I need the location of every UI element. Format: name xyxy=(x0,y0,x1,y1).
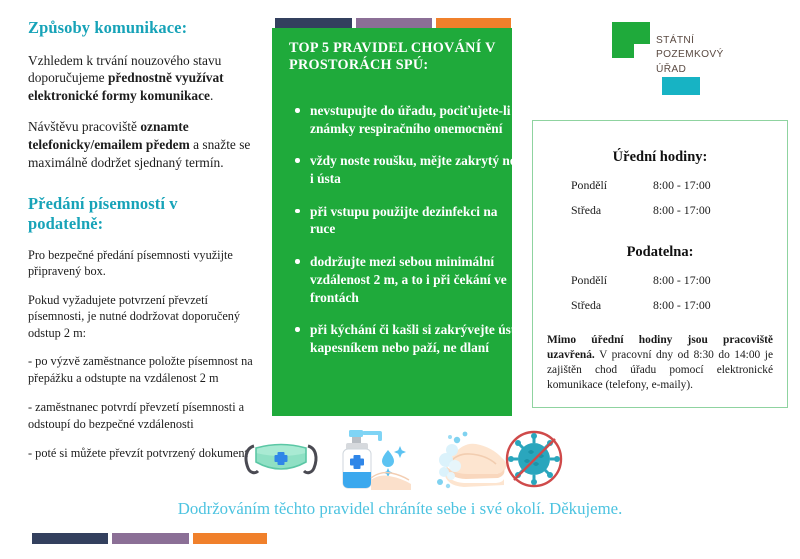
rule-item: při kýchání či kašli si zakrývejte ústa … xyxy=(310,321,526,356)
registry-step-3: - poté si můžete převzít potvrzený dokum… xyxy=(28,445,256,461)
logo-green-block-icon xyxy=(612,22,650,58)
rule-item: při vstupu použijte dezinfekci na ruce xyxy=(310,203,526,238)
registry-hours-row: Pondělí 8:00 - 17:00 xyxy=(571,273,711,288)
top5-rules-panel: TOP 5 PRAVIDEL CHOVÁNÍ V PROSTORÁCH SPÚ:… xyxy=(272,28,512,416)
hand-sanitizer-icon xyxy=(326,428,418,490)
registry-hours-day: Středa xyxy=(571,298,653,313)
bottom-color-bars xyxy=(32,533,267,544)
rule-item: vždy noste roušku, mějte zakrytý nos i ú… xyxy=(310,152,526,187)
office-hours-title: Úřední hodiny: xyxy=(533,149,787,166)
registry-hours-time: 8:00 - 17:00 xyxy=(653,298,711,313)
registry-heading: Předání písemností v podatelně: xyxy=(28,194,256,235)
registry-hours-row: Středa 8:00 - 17:00 xyxy=(571,298,711,313)
face-mask-icon xyxy=(240,428,322,490)
logo-line-1: STÁTNÍ xyxy=(656,34,724,48)
left-column: Způsoby komunikace: Vzhledem k trvání no… xyxy=(28,18,256,475)
paragraph-1-text-b: . xyxy=(210,88,213,103)
office-hours-time: 8:00 - 17:00 xyxy=(653,203,711,218)
registry-step-1: - po výzvě zaměstnance položte písemnost… xyxy=(28,353,256,386)
color-bar-purple xyxy=(112,533,188,544)
communication-heading: Způsoby komunikace: xyxy=(28,18,256,39)
communication-paragraph-1: Vzhledem k trvání nouzového stavu doporu… xyxy=(28,52,256,105)
rule-item: nevstupujte do úřadu, pociťujete-li znám… xyxy=(310,102,526,137)
top5-title: TOP 5 PRAVIDEL CHOVÁNÍ V PROSTORÁCH SPÚ: xyxy=(289,40,499,75)
opening-hours-box: Úřední hodiny: Pondělí 8:00 - 17:00 Stře… xyxy=(532,120,788,408)
spu-logo: STÁTNÍ POZEMKOVÝ ÚŘAD xyxy=(612,22,752,92)
color-bar-navy xyxy=(32,533,108,544)
registry-hours-day: Pondělí xyxy=(571,273,653,288)
paragraph-2-text-a: Návštěvu pracoviště xyxy=(28,119,140,134)
logo-wordmark: STÁTNÍ POZEMKOVÝ ÚŘAD xyxy=(656,34,724,77)
logo-line-2: POZEMKOVÝ xyxy=(656,48,724,62)
registry-step-2: - zaměstnanec potvrdí převzetí písemnost… xyxy=(28,399,256,432)
no-virus-icon xyxy=(498,428,570,490)
office-hours-row: Středa 8:00 - 17:00 xyxy=(571,203,711,218)
footer-message: Dodržováním těchto pravidel chráníte seb… xyxy=(0,499,800,519)
logo-teal-block-icon xyxy=(662,77,700,95)
office-hours-row: Pondělí 8:00 - 17:00 xyxy=(571,178,711,193)
outside-hours-note: Mimo úřední hodiny jsou pracoviště uzavř… xyxy=(547,333,773,394)
registry-paragraph-1: Pro bezpečné předání písemnosti využijte… xyxy=(28,247,256,280)
poster-page: Způsoby komunikace: Vzhledem k trvání no… xyxy=(0,0,800,559)
top5-rules-list: nevstupujte do úřadu, pociťujete-li znám… xyxy=(286,102,526,372)
registry-paragraph-2: Pokud vyžadujete potvrzení převzetí píse… xyxy=(28,292,256,341)
office-hours-time: 8:00 - 17:00 xyxy=(653,178,711,193)
rule-item: dodržujte mezi sebou minimální vzdálenos… xyxy=(310,253,526,306)
hygiene-icon-row xyxy=(240,428,570,490)
registry-hours-time: 8:00 - 17:00 xyxy=(653,273,711,288)
logo-line-3: ÚŘAD xyxy=(656,63,724,77)
communication-paragraph-2: Návštěvu pracoviště oznamte telefonicky/… xyxy=(28,118,256,171)
office-hours-day: Středa xyxy=(571,203,653,218)
office-hours-day: Pondělí xyxy=(571,178,653,193)
registry-hours-title: Podatelna: xyxy=(533,244,787,261)
color-bar-orange xyxy=(193,533,267,544)
